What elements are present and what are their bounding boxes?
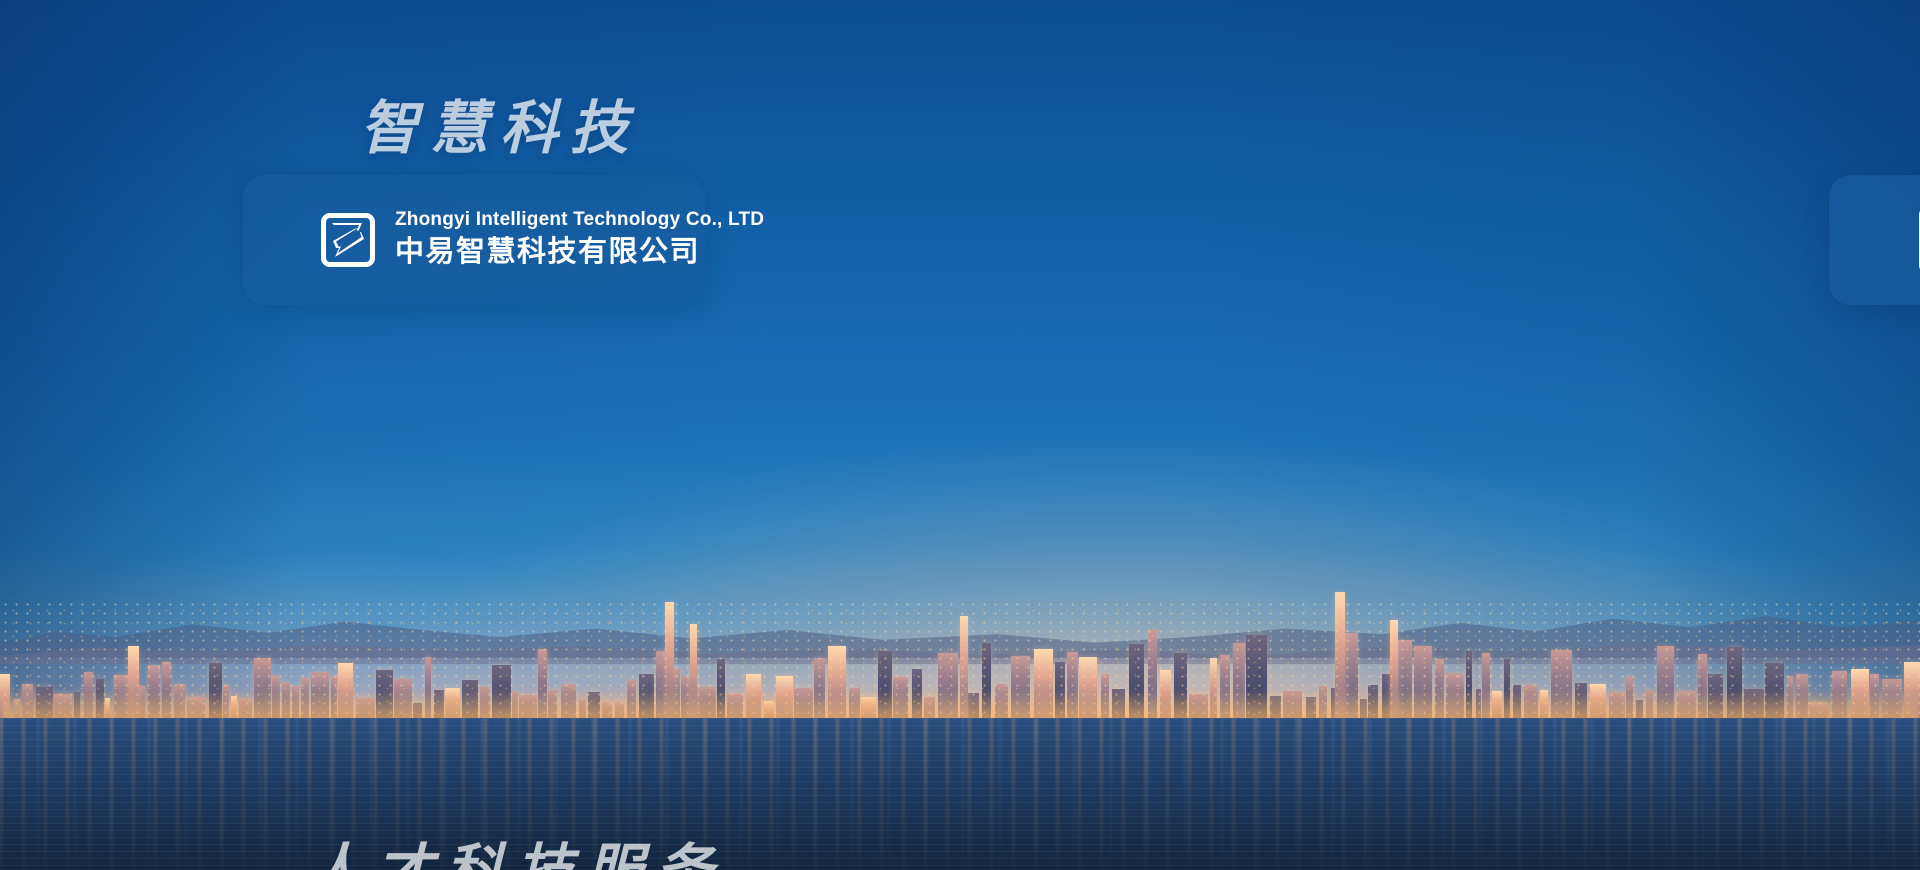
segment-heading-smart-technology: 智慧科技 <box>360 100 640 158</box>
segment-talent-tech-services: 人才科技服务 NY Any technology development Co.… <box>0 435 960 870</box>
segment-heading-talent-tech-services: 人才科技服务 <box>305 843 725 870</box>
company-card-yanxiang-trading[interactable]: 硯 香 ® Yanxiang trading Co., LTD 砚香贸易有限公司 <box>1829 175 1920 305</box>
company-card-zhongyi[interactable]: Zhongyi Intelligent Technology Co., LTD … <box>243 175 705 305</box>
segment-real-estate: 房地产开发 Yanxiang real estate development C… <box>960 435 1920 870</box>
card-text: Zhongyi Intelligent Technology Co., LTD … <box>395 208 764 272</box>
segment-smart-technology: 智慧科技 Zhongyi Intelligent Technology Co.,… <box>0 0 960 435</box>
company-name-en: Zhongyi Intelligent Technology Co., LTD <box>395 208 764 233</box>
zhongyi-z-bolt-icon <box>321 213 375 267</box>
card-inner: Zhongyi Intelligent Technology Co., LTD … <box>321 208 764 272</box>
segment-fmcg: 快消品 硯 香 ® Yanxiang trading Co., LTD 砚香贸易… <box>960 0 1920 435</box>
company-name-cn: 中易智慧科技有限公司 <box>395 233 764 272</box>
zhongyi-bolt-glyph <box>328 219 368 261</box>
segments-grid: 智慧科技 Zhongyi Intelligent Technology Co.,… <box>0 0 1920 870</box>
